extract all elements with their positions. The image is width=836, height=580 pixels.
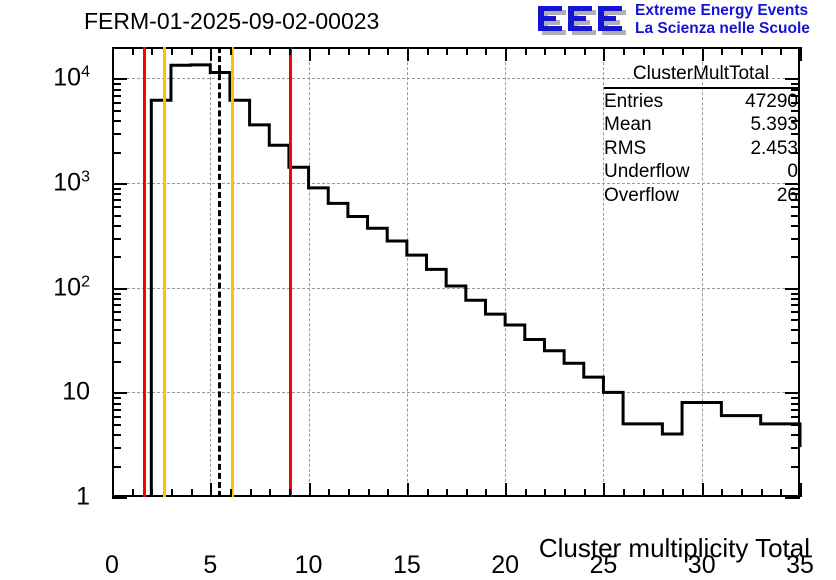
y-axis-minor-tick bbox=[112, 424, 121, 426]
stats-row-value: 47290 bbox=[745, 90, 798, 114]
x-axis-minor-tick bbox=[564, 47, 566, 55]
y-axis-minor-tick bbox=[112, 89, 121, 91]
eee-logo-icon bbox=[537, 2, 629, 38]
x-axis-major-tick bbox=[112, 483, 114, 497]
x-axis-minor-tick bbox=[191, 489, 193, 497]
y-axis-minor-tick bbox=[112, 102, 121, 104]
y-axis-minor-tick bbox=[791, 293, 800, 295]
x-axis-minor-tick bbox=[171, 489, 173, 497]
x-axis-minor-tick bbox=[544, 47, 546, 55]
x-axis-minor-tick bbox=[269, 489, 271, 497]
stats-row-value: 26 bbox=[777, 184, 798, 208]
y-axis-minor-tick bbox=[112, 83, 121, 85]
y-axis-major-tick bbox=[785, 288, 800, 290]
mean-line bbox=[218, 47, 221, 497]
x-axis-minor-tick bbox=[151, 47, 153, 55]
y-axis-minor-tick bbox=[791, 225, 800, 227]
y-axis-minor-tick bbox=[112, 238, 121, 240]
y-axis-minor-tick bbox=[791, 397, 800, 399]
x-axis-major-tick bbox=[309, 47, 311, 61]
y-axis-minor-tick bbox=[112, 409, 121, 411]
x-axis-minor-tick bbox=[466, 47, 468, 55]
y-axis-minor-tick bbox=[112, 434, 121, 436]
y-axis-minor-tick bbox=[791, 47, 800, 49]
stats-row-key: Mean bbox=[604, 113, 652, 137]
stats-row-value: 5.393 bbox=[750, 113, 798, 137]
x-axis-minor-tick bbox=[485, 489, 487, 497]
eee-logo-line2: La Scienza nelle Scuole bbox=[635, 20, 835, 38]
x-axis-minor-tick bbox=[623, 489, 625, 497]
y-axis-minor-tick bbox=[112, 298, 121, 300]
stats-row: Overflow26 bbox=[604, 184, 798, 208]
y-axis-minor-tick bbox=[112, 304, 121, 306]
y-axis-minor-tick bbox=[791, 424, 800, 426]
x-axis-minor-tick bbox=[584, 489, 586, 497]
stats-row-key: RMS bbox=[604, 137, 646, 161]
x-axis-minor-tick bbox=[269, 47, 271, 55]
y-axis-major-tick bbox=[785, 497, 800, 499]
eee-logo-line1: Extreme Energy Events bbox=[635, 2, 835, 20]
x-axis-minor-tick bbox=[662, 489, 664, 497]
x-axis-minor-tick bbox=[132, 47, 134, 55]
y-axis-minor-tick bbox=[112, 311, 121, 313]
stats-row: RMS2.453 bbox=[604, 137, 798, 161]
x-axis-minor-tick bbox=[289, 47, 291, 55]
y-axis-minor-tick bbox=[112, 47, 121, 49]
y-tick-label: 103 bbox=[53, 168, 90, 197]
y-tick-label: 104 bbox=[53, 64, 90, 93]
x-axis-minor-tick bbox=[780, 489, 782, 497]
x-axis-minor-tick bbox=[761, 489, 763, 497]
x-axis-minor-tick bbox=[564, 489, 566, 497]
y-axis-minor-tick bbox=[112, 215, 121, 217]
x-axis-minor-tick bbox=[328, 489, 330, 497]
x-axis-minor-tick bbox=[191, 47, 193, 55]
y-axis-minor-tick bbox=[112, 293, 121, 295]
y-axis-minor-tick bbox=[791, 416, 800, 418]
y-axis-minor-tick bbox=[112, 225, 121, 227]
y-axis-minor-tick bbox=[791, 434, 800, 436]
x-axis-major-tick bbox=[702, 483, 704, 497]
x-axis-major-tick bbox=[800, 47, 802, 61]
x-axis-minor-tick bbox=[761, 47, 763, 55]
y-axis-minor-tick bbox=[791, 409, 800, 411]
y-axis-minor-tick bbox=[112, 120, 121, 122]
x-axis-minor-tick bbox=[741, 489, 743, 497]
x-axis-major-tick bbox=[505, 47, 507, 61]
x-axis-minor-tick bbox=[151, 489, 153, 497]
x-axis-major-tick bbox=[112, 47, 114, 61]
y-axis-minor-tick bbox=[791, 329, 800, 331]
y-axis-minor-tick bbox=[791, 304, 800, 306]
x-axis-minor-tick bbox=[643, 47, 645, 55]
x-axis-minor-tick bbox=[171, 47, 173, 55]
x-axis-minor-tick bbox=[682, 47, 684, 55]
lower-red-threshold bbox=[143, 47, 146, 497]
x-axis-major-tick bbox=[210, 483, 212, 497]
x-axis-major-tick bbox=[407, 483, 409, 497]
y-axis-minor-tick bbox=[112, 329, 121, 331]
stats-row-key: Overflow bbox=[604, 184, 679, 208]
stats-row: Mean5.393 bbox=[604, 113, 798, 137]
y-axis-minor-tick bbox=[112, 319, 121, 321]
y-axis-minor-tick bbox=[112, 361, 121, 363]
y-axis-minor-tick bbox=[791, 238, 800, 240]
eee-logo-text: Extreme Energy Events La Scienza nelle S… bbox=[635, 2, 835, 38]
x-axis-minor-tick bbox=[525, 489, 527, 497]
y-axis-minor-tick bbox=[791, 215, 800, 217]
stats-row-key: Entries bbox=[604, 90, 663, 114]
y-axis-minor-tick bbox=[112, 447, 121, 449]
x-axis-minor-tick bbox=[544, 489, 546, 497]
y-axis-minor-tick bbox=[112, 133, 121, 135]
upper-red-threshold bbox=[289, 47, 292, 497]
x-axis-minor-tick bbox=[427, 489, 429, 497]
x-axis-minor-tick bbox=[721, 489, 723, 497]
y-axis-minor-tick bbox=[112, 152, 121, 154]
x-axis-minor-tick bbox=[623, 47, 625, 55]
x-axis-minor-tick bbox=[250, 47, 252, 55]
x-axis-minor-tick bbox=[643, 489, 645, 497]
y-axis-minor-tick bbox=[112, 95, 121, 97]
x-axis-minor-tick bbox=[368, 489, 370, 497]
page-title: FERM-01-2025-09-02-00023 bbox=[84, 8, 379, 35]
y-axis-major-tick bbox=[112, 288, 127, 290]
x-axis-minor-tick bbox=[466, 489, 468, 497]
stats-row: Underflow0 bbox=[604, 160, 798, 184]
x-axis-major-tick bbox=[702, 47, 704, 61]
x-axis-minor-tick bbox=[427, 47, 429, 55]
y-axis-minor-tick bbox=[112, 256, 121, 258]
x-axis-minor-tick bbox=[348, 47, 350, 55]
y-tick-label: 10 bbox=[62, 378, 90, 407]
y-axis-major-tick bbox=[112, 497, 127, 499]
stats-row-key: Underflow bbox=[604, 160, 690, 184]
y-axis-minor-tick bbox=[791, 403, 800, 405]
y-axis-minor-tick bbox=[791, 342, 800, 344]
x-axis-minor-tick bbox=[741, 47, 743, 55]
y-axis-minor-tick bbox=[112, 397, 121, 399]
y-axis-minor-tick bbox=[112, 110, 121, 112]
y-axis-minor-tick bbox=[112, 342, 121, 344]
x-axis-minor-tick bbox=[387, 47, 389, 55]
y-axis-minor-tick bbox=[112, 193, 121, 195]
stats-box-title: ClusterMultTotal bbox=[604, 62, 798, 89]
y-axis-minor-tick bbox=[791, 298, 800, 300]
x-axis-major-tick bbox=[210, 47, 212, 61]
x-axis-minor-tick bbox=[446, 489, 448, 497]
y-tick-label: 102 bbox=[53, 273, 90, 302]
x-axis-minor-tick bbox=[446, 47, 448, 55]
y-axis-minor-tick bbox=[791, 256, 800, 258]
x-axis-minor-tick bbox=[132, 489, 134, 497]
y-tick-label: 1 bbox=[76, 483, 90, 512]
y-axis-minor-tick bbox=[112, 188, 121, 190]
y-axis-minor-tick bbox=[791, 319, 800, 321]
y-axis-minor-tick bbox=[112, 466, 121, 468]
y-axis-major-tick bbox=[785, 392, 800, 394]
x-axis-title: Cluster multiplicity Total bbox=[0, 533, 836, 564]
y-axis-minor-tick bbox=[791, 447, 800, 449]
y-axis-major-tick bbox=[112, 392, 127, 394]
y-axis-minor-tick bbox=[791, 311, 800, 313]
x-axis-major-tick bbox=[407, 47, 409, 61]
y-axis-minor-tick bbox=[112, 416, 121, 418]
y-axis-minor-tick bbox=[112, 206, 121, 208]
upper-orange-threshold bbox=[231, 47, 234, 497]
stats-box: ClusterMultTotal Entries47290Mean5.393RM… bbox=[604, 62, 798, 207]
x-axis-minor-tick bbox=[230, 489, 232, 497]
x-axis-minor-tick bbox=[780, 47, 782, 55]
stats-rows: Entries47290Mean5.393RMS2.453Underflow0O… bbox=[604, 90, 798, 208]
y-axis-minor-tick bbox=[791, 361, 800, 363]
x-axis-minor-tick bbox=[387, 489, 389, 497]
y-axis-major-tick bbox=[112, 78, 127, 80]
eee-logo: Extreme Energy Events La Scienza nelle S… bbox=[537, 2, 833, 42]
y-axis-minor-tick bbox=[112, 403, 121, 405]
x-axis-major-tick bbox=[603, 47, 605, 61]
plot-canvas: FERM-01-2025-09-02-00023 bbox=[0, 0, 836, 572]
x-axis-minor-tick bbox=[584, 47, 586, 55]
x-axis-minor-tick bbox=[230, 47, 232, 55]
stats-row: Entries47290 bbox=[604, 90, 798, 114]
x-axis-major-tick bbox=[309, 483, 311, 497]
x-axis-minor-tick bbox=[525, 47, 527, 55]
x-axis-minor-tick bbox=[682, 489, 684, 497]
x-axis-minor-tick bbox=[662, 47, 664, 55]
x-axis-minor-tick bbox=[348, 489, 350, 497]
lower-orange-threshold bbox=[163, 47, 166, 497]
x-axis-major-tick bbox=[603, 483, 605, 497]
y-axis-minor-tick bbox=[112, 199, 121, 201]
x-axis-minor-tick bbox=[485, 47, 487, 55]
x-axis-major-tick bbox=[800, 483, 802, 497]
y-axis-major-tick bbox=[112, 183, 127, 185]
stats-row-value: 2.453 bbox=[750, 137, 798, 161]
x-axis-minor-tick bbox=[328, 47, 330, 55]
x-axis-minor-tick bbox=[250, 489, 252, 497]
x-axis-minor-tick bbox=[721, 47, 723, 55]
x-axis-minor-tick bbox=[368, 47, 370, 55]
x-axis-minor-tick bbox=[289, 489, 291, 497]
y-axis-minor-tick bbox=[791, 466, 800, 468]
stats-row-value: 0 bbox=[787, 160, 798, 184]
x-axis-major-tick bbox=[505, 483, 507, 497]
